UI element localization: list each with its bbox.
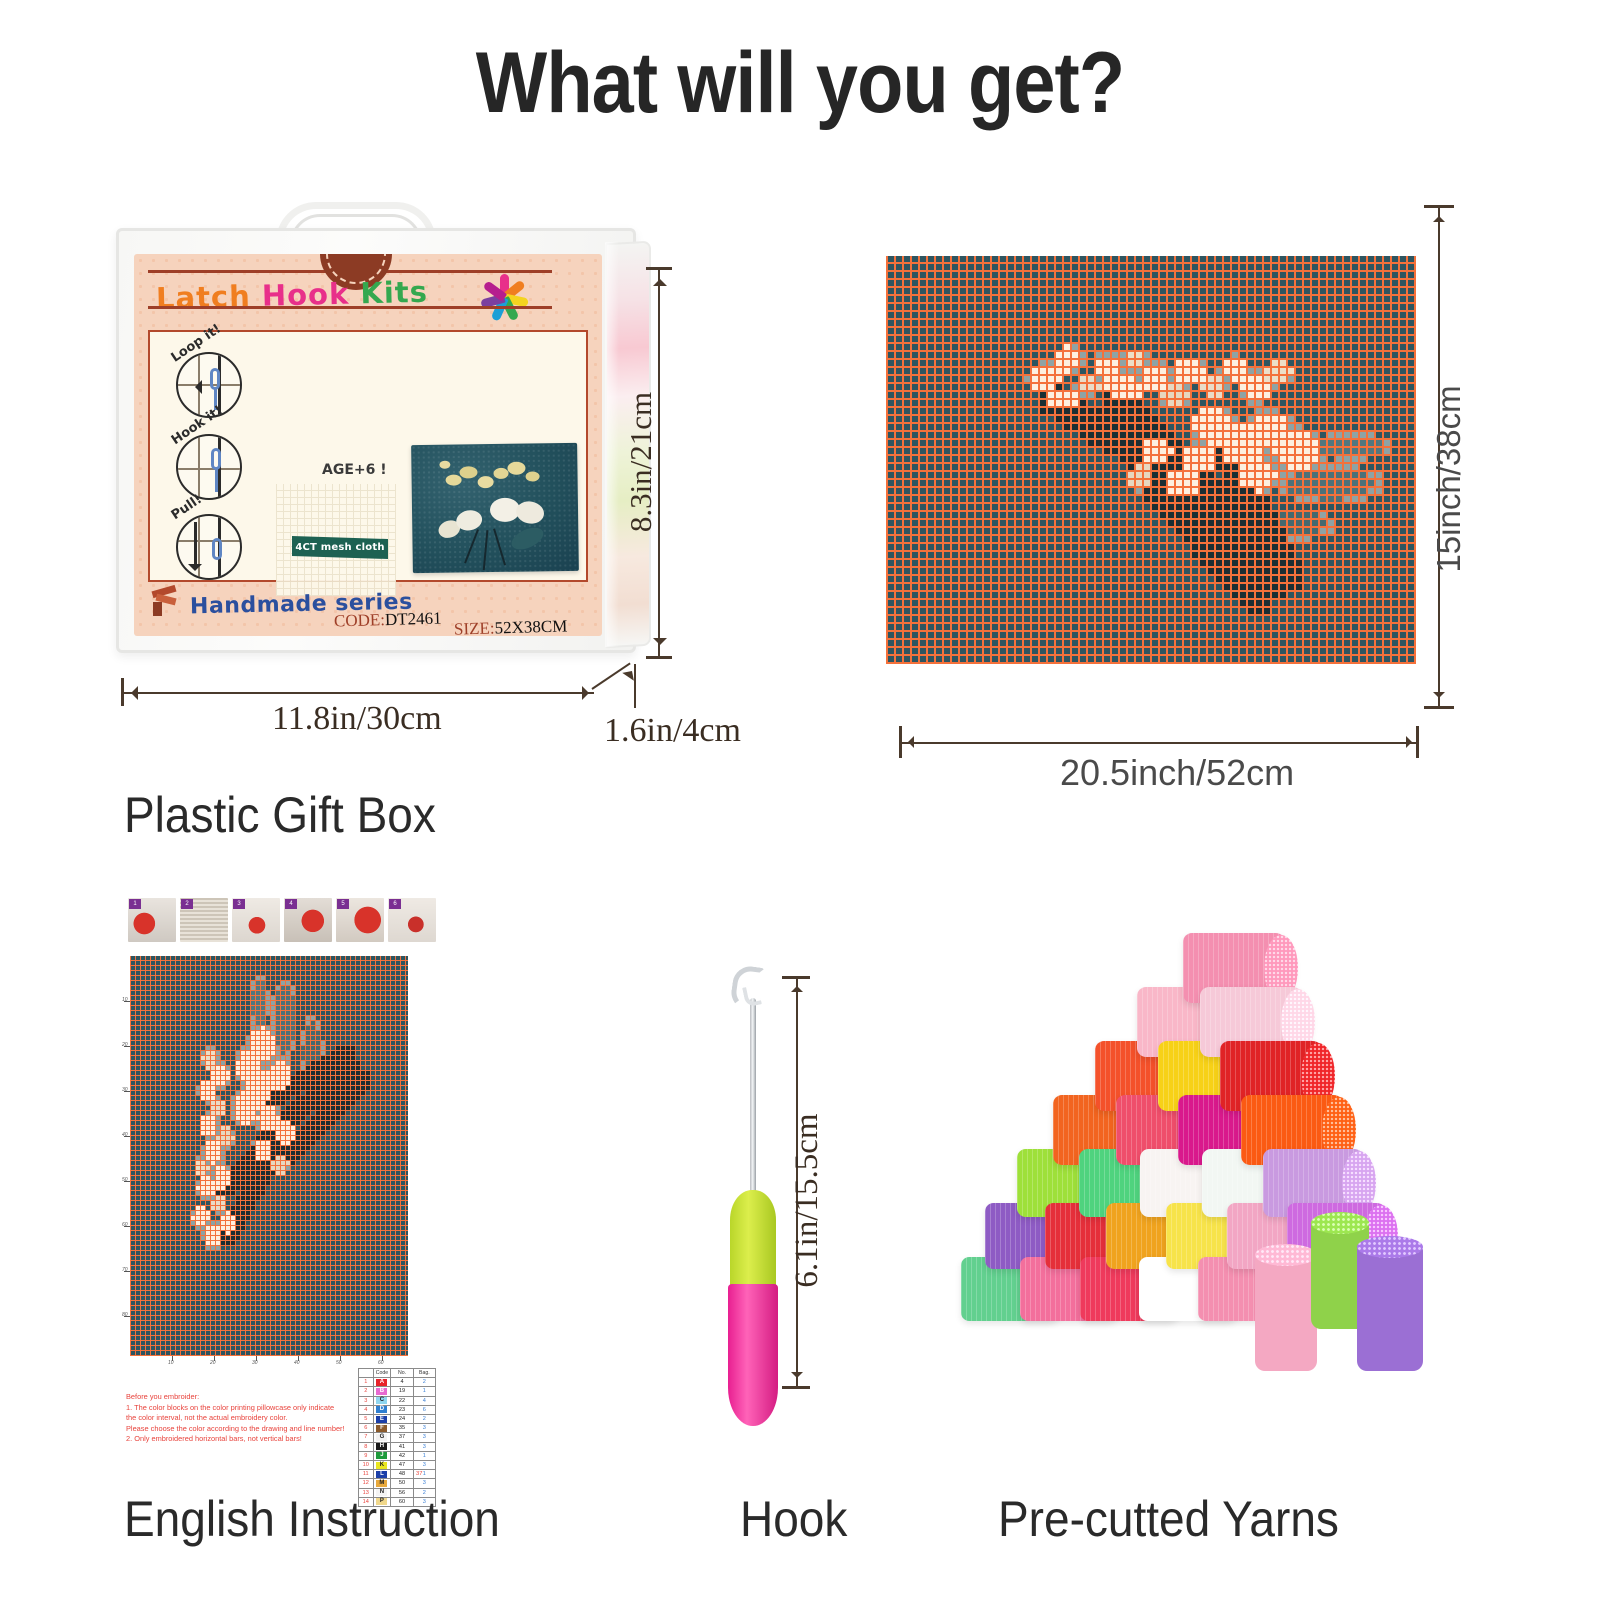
caption-hook: Hook [740, 1490, 847, 1548]
box-printed-face: Latch Hook Kits [134, 254, 602, 636]
instruction-step-thumbnail: 33 [232, 898, 280, 942]
step-number-badge: 4 [285, 899, 297, 909]
page-title: What will you get? [96, 34, 1504, 133]
chart-horizontal-ruler: 102030405060 [130, 1356, 408, 1366]
notice-line-2: the color interval, not the actual embro… [126, 1413, 356, 1424]
instruction-pattern-chart [130, 956, 408, 1356]
instruction-step-thumbnail: 55 [336, 898, 384, 942]
hook-shaft [750, 998, 756, 1198]
legend-header-no: No. [391, 1369, 413, 1378]
before-you-embroider-notice: Before you embroider: 1. The color block… [126, 1392, 356, 1445]
notice-line-4: 2. Only embroidered horizontal bars, not… [126, 1434, 356, 1445]
notice-line-3: Please choose the color according to the… [126, 1424, 356, 1435]
legend-row-number: 4 [391, 1378, 413, 1387]
chart-vertical-ruler: 1020304050607080 [122, 956, 130, 1356]
legend-row-number: 42 [391, 1451, 413, 1460]
legend-header-blank [359, 1369, 374, 1378]
legend-row-bag: 4 [413, 1396, 435, 1405]
canvas-width-arrow-left [902, 736, 914, 748]
legend-row-bag: 2 [413, 1378, 435, 1387]
legend-row-bag: 6 [413, 1405, 435, 1414]
legend-row-number: 35 [391, 1424, 413, 1433]
divider-under-logo [148, 306, 552, 309]
legend-row: 2B191 [359, 1387, 436, 1396]
yarn-tube [1357, 1245, 1423, 1371]
legend-row: 10K473 [359, 1461, 436, 1470]
legend-row: 7G373 [359, 1433, 436, 1442]
legend-row: 4D236 [359, 1405, 436, 1414]
legend-header-row: Code No. Bag. [359, 1369, 436, 1378]
box-height-label: 8.3in/21cm [623, 392, 659, 532]
legend-row: 12M503 [359, 1479, 436, 1488]
legend-row-number: 47 [391, 1461, 413, 1470]
legend-row-swatch: J [373, 1451, 391, 1460]
canvas-printed-artwork [886, 256, 1416, 664]
caption-english-instruction: English Instruction [124, 1490, 500, 1548]
legend-row-index: 12 [359, 1479, 374, 1488]
step-number-badge: 3 [233, 899, 245, 909]
step-number-badge: 1 [129, 899, 141, 909]
box-height-arrow-down [653, 638, 667, 652]
instruction-step-thumbnails: 112233445566 [128, 898, 440, 946]
canvas-height-arrow-up [1433, 210, 1445, 222]
legend-row: 11L481 [359, 1470, 436, 1479]
color-legend-table: Code No. Bag. 1A422B1913C2244D2365E2426F… [358, 1368, 436, 1507]
legend-row-number: 48 [391, 1470, 413, 1479]
legend-row-index: 1 [359, 1378, 374, 1387]
legend-row-swatch: K [373, 1461, 391, 1470]
box-height-tick-bottom [646, 656, 672, 659]
legend-row-index: 2 [359, 1387, 374, 1396]
product-code-value: DT2461 [385, 609, 442, 630]
canvas-width-line [900, 742, 1418, 744]
notice-line-1: 1. The color blocks on the color printin… [126, 1403, 356, 1414]
legend-row-bag: 3 [413, 1461, 435, 1470]
hook-length-label: 6.1in/15.5cm [789, 1113, 826, 1287]
step-number-badge: 6 [389, 899, 401, 909]
legend-row: 8H413 [359, 1442, 436, 1451]
step-diagram-hook [176, 434, 242, 500]
legend-row-index: 5 [359, 1415, 374, 1424]
legend-row-bag: 2 [413, 1415, 435, 1424]
hook-handle-upper [730, 1190, 776, 1288]
finished-rug-preview [411, 443, 579, 573]
notice-heading: Before you embroider: [126, 1392, 356, 1403]
box-side-gloss [605, 242, 619, 648]
legend-row-number: 50 [391, 1479, 413, 1488]
legend-row: 3C224 [359, 1396, 436, 1405]
caption-pre-cutted-yarns: Pre-cutted Yarns [998, 1490, 1339, 1548]
yarn-tube-top [1255, 1244, 1317, 1266]
step-diagram-pull [176, 514, 242, 580]
legend-header-code: Code [373, 1369, 391, 1378]
canvas-height-tick-top [1424, 205, 1454, 208]
legend-row-number: 41 [391, 1442, 413, 1451]
legend-row-swatch: B [373, 1387, 391, 1396]
legend-row-bag: 3 [413, 1433, 435, 1442]
legend-row-swatch: D [373, 1405, 391, 1414]
instruction-chart-artwork [130, 956, 408, 1356]
age-recommendation: AGE+6 ! [322, 462, 387, 478]
instruction-step-thumbnail: 66 [388, 898, 436, 942]
logo-word-3: Kits [360, 275, 428, 311]
legend-row-index: 4 [359, 1405, 374, 1414]
box-width-label: 11.8in/30cm [272, 700, 442, 738]
legend-row-swatch: C [373, 1396, 391, 1405]
gift-box-illustration: Latch Hook Kits [108, 196, 668, 696]
box-width-arrow-left [124, 686, 138, 700]
legend-row-bag: 1 [413, 1387, 435, 1396]
legend-row-index: 9 [359, 1451, 374, 1460]
hook-length-tick-top [782, 976, 810, 979]
legend-row-index: 7 [359, 1433, 374, 1442]
pre-cut-yarn-bundles [955, 915, 1465, 1385]
yarn-tube-top [1357, 1236, 1423, 1258]
legend-row-bag: 1 [413, 1451, 435, 1460]
legend-row-index: 6 [359, 1424, 374, 1433]
canvas-width-label: 20.5inch/52cm [1060, 752, 1294, 794]
legend-row-index: 10 [359, 1461, 374, 1470]
step-number-badge: 5 [337, 899, 349, 909]
legend-row: 9J421 [359, 1451, 436, 1460]
yarn-tube [1255, 1253, 1317, 1371]
legend-row-bag: 3 [413, 1479, 435, 1488]
box-width-line [122, 692, 594, 694]
box-height-tick-top [646, 267, 672, 270]
product-size-label: SIZE: [454, 618, 495, 636]
product-code: CODE:DT2461 [334, 609, 442, 632]
legend-row-index: 3 [359, 1396, 374, 1405]
product-size-value: 52X38CM [494, 616, 567, 636]
hook-length-arrow-down [791, 1372, 803, 1384]
canvas-height-label: 15inch/38cm [1430, 385, 1468, 572]
product-size: SIZE:52X38CM [454, 616, 568, 636]
instruction-step-thumbnail: 22 [180, 898, 228, 942]
legend-row-swatch: M [373, 1479, 391, 1488]
legend-row-number: 37 [391, 1433, 413, 1442]
caption-plastic-gift-box: Plastic Gift Box [124, 786, 436, 844]
legend-row: 1A42 [359, 1378, 436, 1387]
hook-length-arrow-up [791, 980, 803, 992]
box-depth-tick [634, 664, 636, 708]
legend-row-number: 22 [391, 1396, 413, 1405]
legend-row-number: 23 [391, 1405, 413, 1414]
canvas-width-arrow-right [1406, 736, 1418, 748]
mesh-cloth-ribbon: 4CT mesh cloth [292, 536, 388, 559]
hook-length-tick-bottom [782, 1386, 810, 1389]
printed-mesh-canvas [886, 256, 1416, 664]
infographic-page: What will you get? Latch Hook Kits [0, 0, 1600, 1600]
product-code-label: CODE: [334, 610, 386, 630]
english-instruction-sheet: 112233445566 1020304050607080 1020304050… [120, 898, 440, 1488]
instruction-step-thumbnail: 44 [284, 898, 332, 942]
legend-row-swatch: H [373, 1442, 391, 1451]
yarn-tube-top [1311, 1212, 1369, 1234]
logo-word-1: Latch [156, 279, 252, 315]
canvas-height-arrow-down [1433, 692, 1445, 704]
legend-row-swatch: E [373, 1415, 391, 1424]
legend-row: 5E242 [359, 1415, 436, 1424]
instruction-step-thumbnail: 11 [128, 898, 176, 942]
legend-row-bag: 3 [413, 1424, 435, 1433]
canvas-height-tick-bottom [1424, 706, 1454, 709]
handmade-stamp-icon [150, 584, 184, 618]
legend-row-swatch: G [373, 1433, 391, 1442]
legend-header-bag: Bag. [413, 1369, 435, 1378]
hook-handle-lower [728, 1284, 778, 1426]
legend-total-count: 37 [416, 1471, 422, 1477]
box-height-arrow-up [653, 272, 667, 286]
product-logo-title: Latch Hook Kits [156, 275, 429, 316]
legend-row: 6F353 [359, 1424, 436, 1433]
box-inner-panel: Loop it! Hook it! [148, 330, 588, 582]
legend-row-swatch: F [373, 1424, 391, 1433]
legend-row-bag: 3 [413, 1442, 435, 1451]
legend-row-number: 24 [391, 1415, 413, 1424]
legend-row-swatch: A [373, 1378, 391, 1387]
legend-row-index: 11 [359, 1470, 374, 1479]
legend-row-swatch: L [373, 1470, 391, 1479]
step-number-badge: 2 [181, 899, 193, 909]
legend-row-number: 19 [391, 1387, 413, 1396]
legend-row-index: 8 [359, 1442, 374, 1451]
pinwheel-logo-icon [476, 270, 532, 326]
mesh-cloth-ribbon-label: 4CT mesh cloth [295, 542, 384, 553]
box-depth-label: 1.6in/4cm [604, 712, 741, 750]
